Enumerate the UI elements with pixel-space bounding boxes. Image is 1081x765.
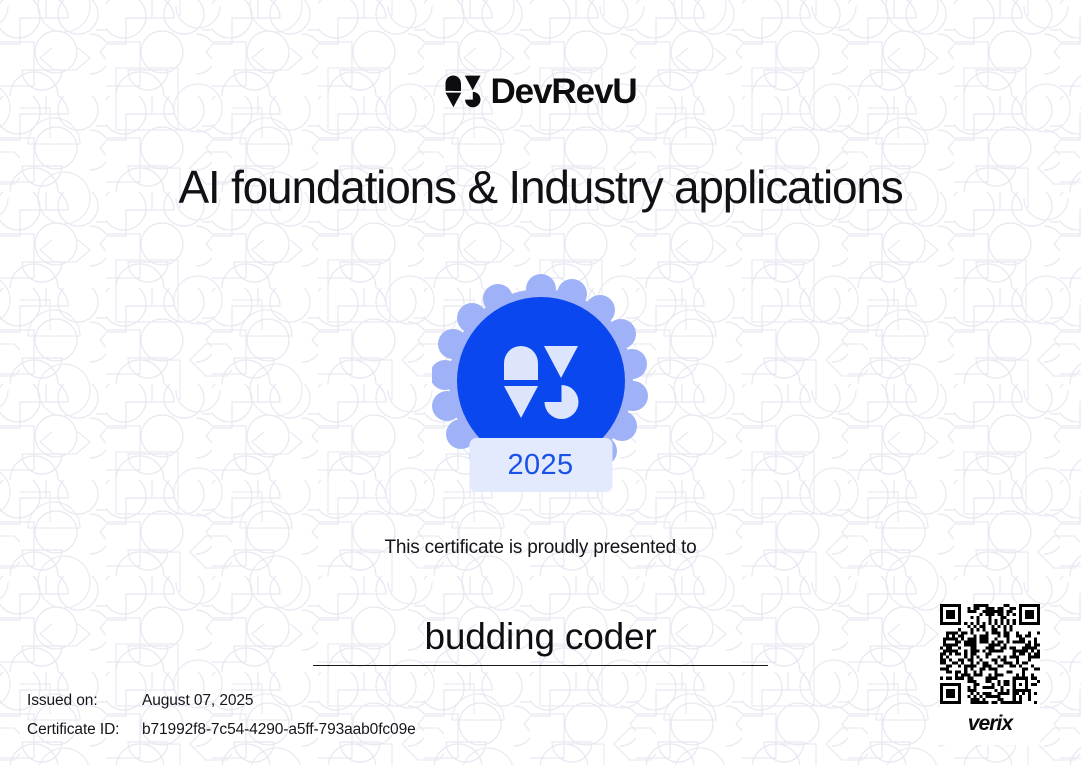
certificate-meta: Issued on: August 07, 2025 Certificate I… — [27, 693, 416, 737]
recipient-name: budding coder — [313, 614, 768, 660]
issued-on-value: August 07, 2025 — [142, 693, 253, 709]
certificate-id-row: Certificate ID: b71992f8-7c54-4290-a5ff-… — [27, 722, 416, 738]
qr-code-icon[interactable] — [940, 604, 1040, 704]
issued-on-label: Issued on: — [27, 693, 142, 709]
certificate-title: AI foundations & Industry applications — [0, 161, 1081, 214]
certificate-id-label: Certificate ID: — [27, 722, 142, 738]
recipient-block: budding coder — [313, 614, 768, 666]
verix-wordmark: verix — [968, 713, 1013, 734]
certificate-badge: 2025 — [0, 272, 1081, 490]
certificate-canvas: DevRevU AI foundations & Industry applic… — [0, 0, 1081, 765]
recipient-underline — [313, 665, 768, 666]
issued-on-row: Issued on: August 07, 2025 — [27, 693, 416, 709]
badge-year-label: 2025 — [469, 438, 612, 492]
brand-name: DevRevU — [491, 74, 637, 109]
devrev-logo-mark-icon — [445, 75, 481, 108]
badge-devrev-logo-mark-icon — [503, 345, 579, 420]
certificate-id-value: b71992f8-7c54-4290-a5ff-793aab0fc09e — [142, 722, 416, 738]
presented-to-text: This certificate is proudly presented to — [0, 537, 1081, 559]
brand-header: DevRevU — [0, 74, 1081, 109]
verification-qr-card[interactable]: verix — [940, 604, 1040, 745]
